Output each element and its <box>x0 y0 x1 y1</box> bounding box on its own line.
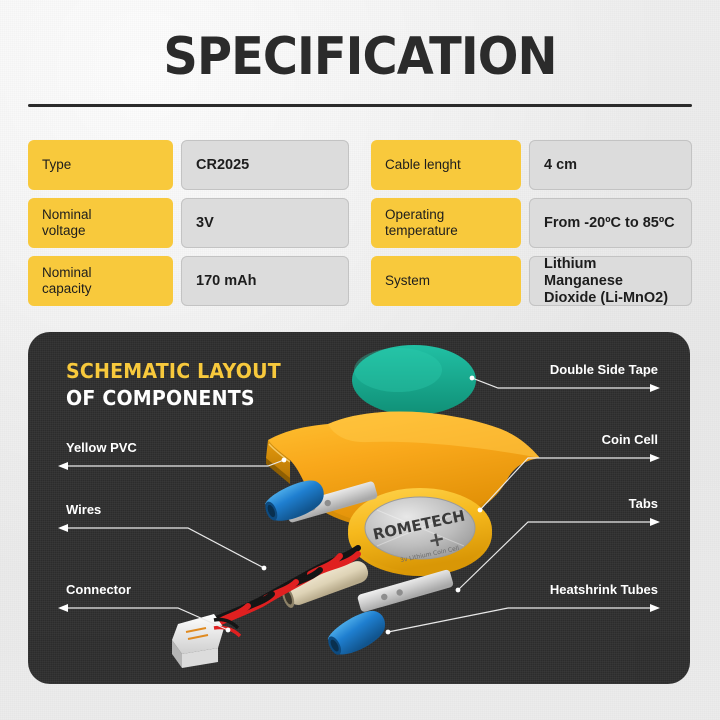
spec-value: Lithium Manganese Dioxide (Li-MnO2) <box>529 256 692 306</box>
page-title: SPECIFICATION <box>29 26 691 88</box>
callout-connector: Connector <box>66 578 226 604</box>
spec-column-left: Type CR2025 Nominal voltage 3V Nominal c… <box>28 140 349 306</box>
callout-coin-cell: Coin Cell <box>458 428 658 454</box>
spec-value: CR2025 <box>181 140 349 190</box>
spec-key: Nominal voltage <box>28 198 173 248</box>
callout-tabs: Tabs <box>458 492 658 518</box>
table-row: Type CR2025 <box>28 140 349 190</box>
callout-label: Coin Cell <box>602 432 658 448</box>
blue-tube-lower-art <box>323 605 392 662</box>
callout-label: Wires <box>66 502 101 518</box>
spec-value: 170 mAh <box>181 256 349 306</box>
callout-label: Yellow PVC <box>66 440 137 456</box>
spec-value: 3V <box>181 198 349 248</box>
table-row: Operating temperature From -20ºC to 85ºC <box>371 198 692 248</box>
spec-key: Cable lenght <box>371 140 521 190</box>
infographic-page: SPECIFICATION Type CR2025 Nominal voltag… <box>0 0 720 720</box>
table-row: Nominal capacity 170 mAh <box>28 256 349 306</box>
callout-label: Heatshrink Tubes <box>550 582 658 598</box>
title-divider <box>28 104 692 107</box>
connector-art <box>172 614 240 668</box>
spec-key: Operating temperature <box>371 198 521 248</box>
table-row: System Lithium Manganese Dioxide (Li-MnO… <box>371 256 692 306</box>
table-row: Cable lenght 4 cm <box>371 140 692 190</box>
callout-label: Tabs <box>629 496 658 512</box>
callout-double-side-tape: Double Side Tape <box>458 358 658 384</box>
spec-value: From -20ºC to 85ºC <box>529 198 692 248</box>
spec-column-right: Cable lenght 4 cm Operating temperature … <box>371 140 692 306</box>
spec-value: 4 cm <box>529 140 692 190</box>
callout-heatshrink-tubes: Heatshrink Tubes <box>458 578 658 604</box>
spec-key: System <box>371 256 521 306</box>
callout-wires: Wires <box>66 498 226 524</box>
spec-key: Nominal capacity <box>28 256 173 306</box>
table-row: Nominal voltage 3V <box>28 198 349 248</box>
callout-yellow-pvc: Yellow PVC <box>66 436 226 462</box>
specification-table: Type CR2025 Nominal voltage 3V Nominal c… <box>28 140 692 306</box>
spec-key: Type <box>28 140 173 190</box>
callout-label: Double Side Tape <box>550 362 658 378</box>
schematic-layout-panel: SCHEMATIC LAYOUT OF COMPONENTS <box>28 332 690 684</box>
callout-label: Connector <box>66 582 131 598</box>
